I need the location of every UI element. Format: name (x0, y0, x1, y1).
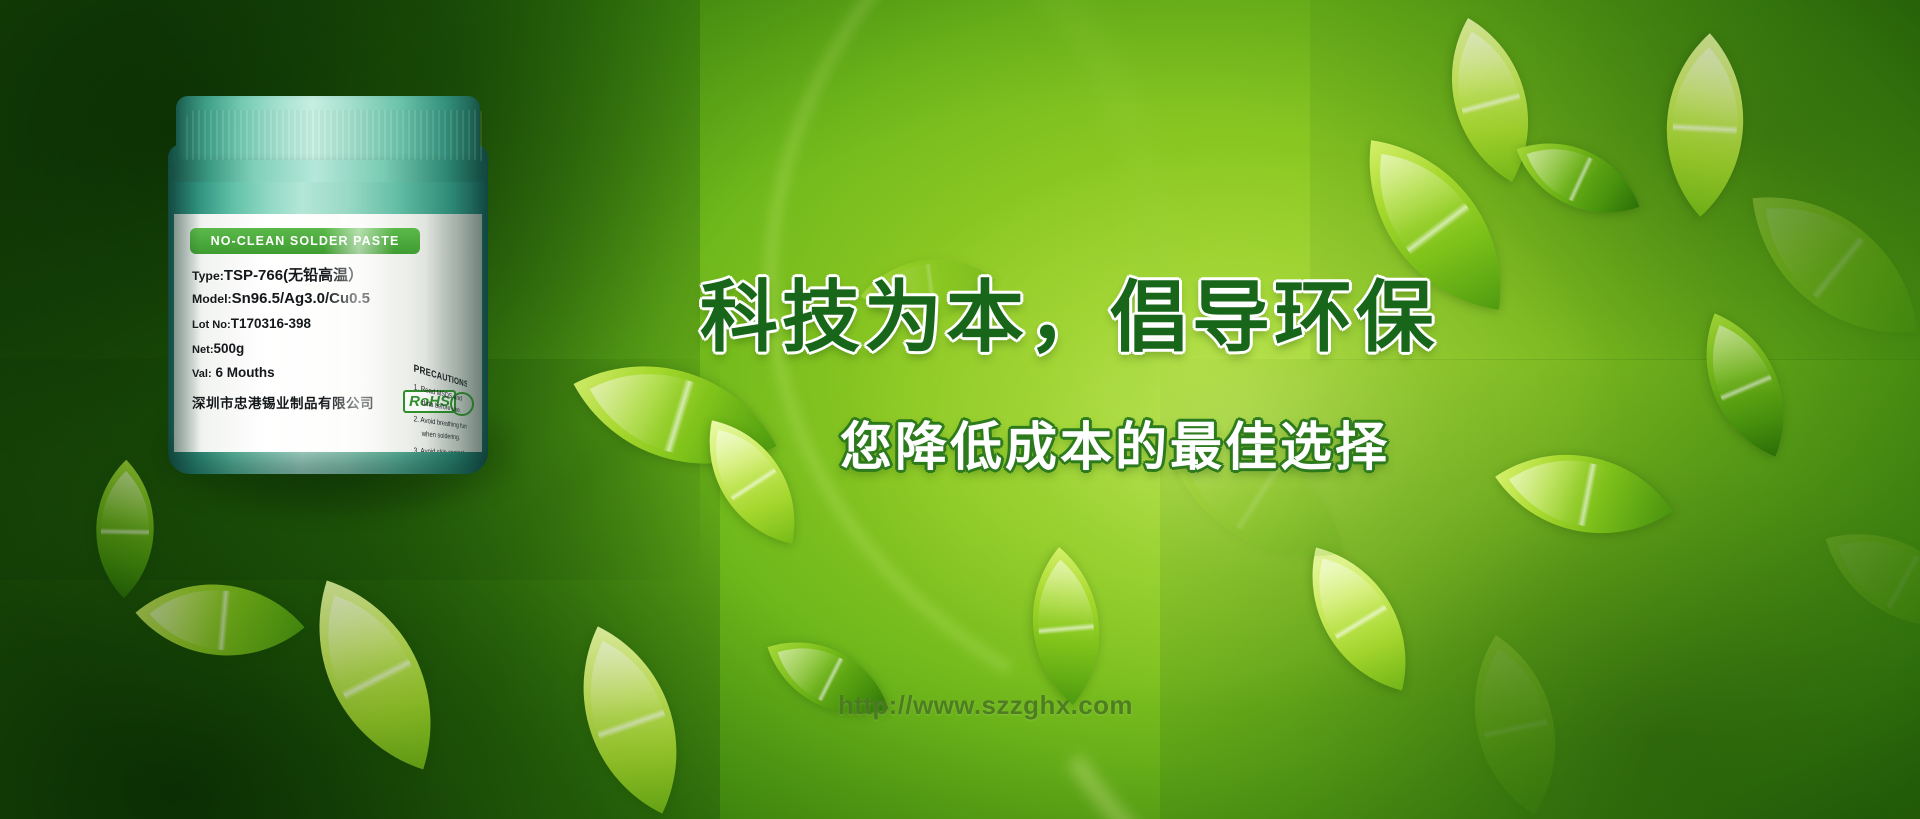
label-shade-right (426, 214, 482, 452)
label-val-line: Val: 6 Mouths (192, 365, 275, 380)
precautions-item-num: 2. (414, 414, 419, 424)
precautions-item-num: 3. (414, 446, 419, 452)
label-shade-left (174, 214, 200, 452)
label-lot-value: T170316-398 (231, 316, 311, 331)
label-lot-line: Lot No:T170316-398 (192, 316, 311, 331)
product-jar: NO-CLEAN SOLDER PASTE Type:TSP-766(无铅高温）… (168, 88, 498, 488)
website-url[interactable]: http://www.szzghx.com (838, 690, 1133, 721)
precautions-item-num: 1. (414, 382, 419, 392)
label-net-value: 500g (214, 341, 245, 356)
jar-lid-rim (172, 160, 484, 182)
banner-headline: 科技为本，倡导环保 (700, 255, 1438, 367)
banner-subheadline: 您降低成本的最佳选择 (840, 405, 1390, 480)
product-label: NO-CLEAN SOLDER PASTE Type:TSP-766(无铅高温）… (174, 214, 482, 452)
jar-lid-ridges (186, 110, 486, 166)
label-gloss (324, 214, 394, 452)
promo-banner: NO-CLEAN SOLDER PASTE Type:TSP-766(无铅高温）… (0, 0, 1920, 819)
label-val-value: 6 Mouths (212, 365, 275, 380)
jar-lid (176, 96, 480, 170)
